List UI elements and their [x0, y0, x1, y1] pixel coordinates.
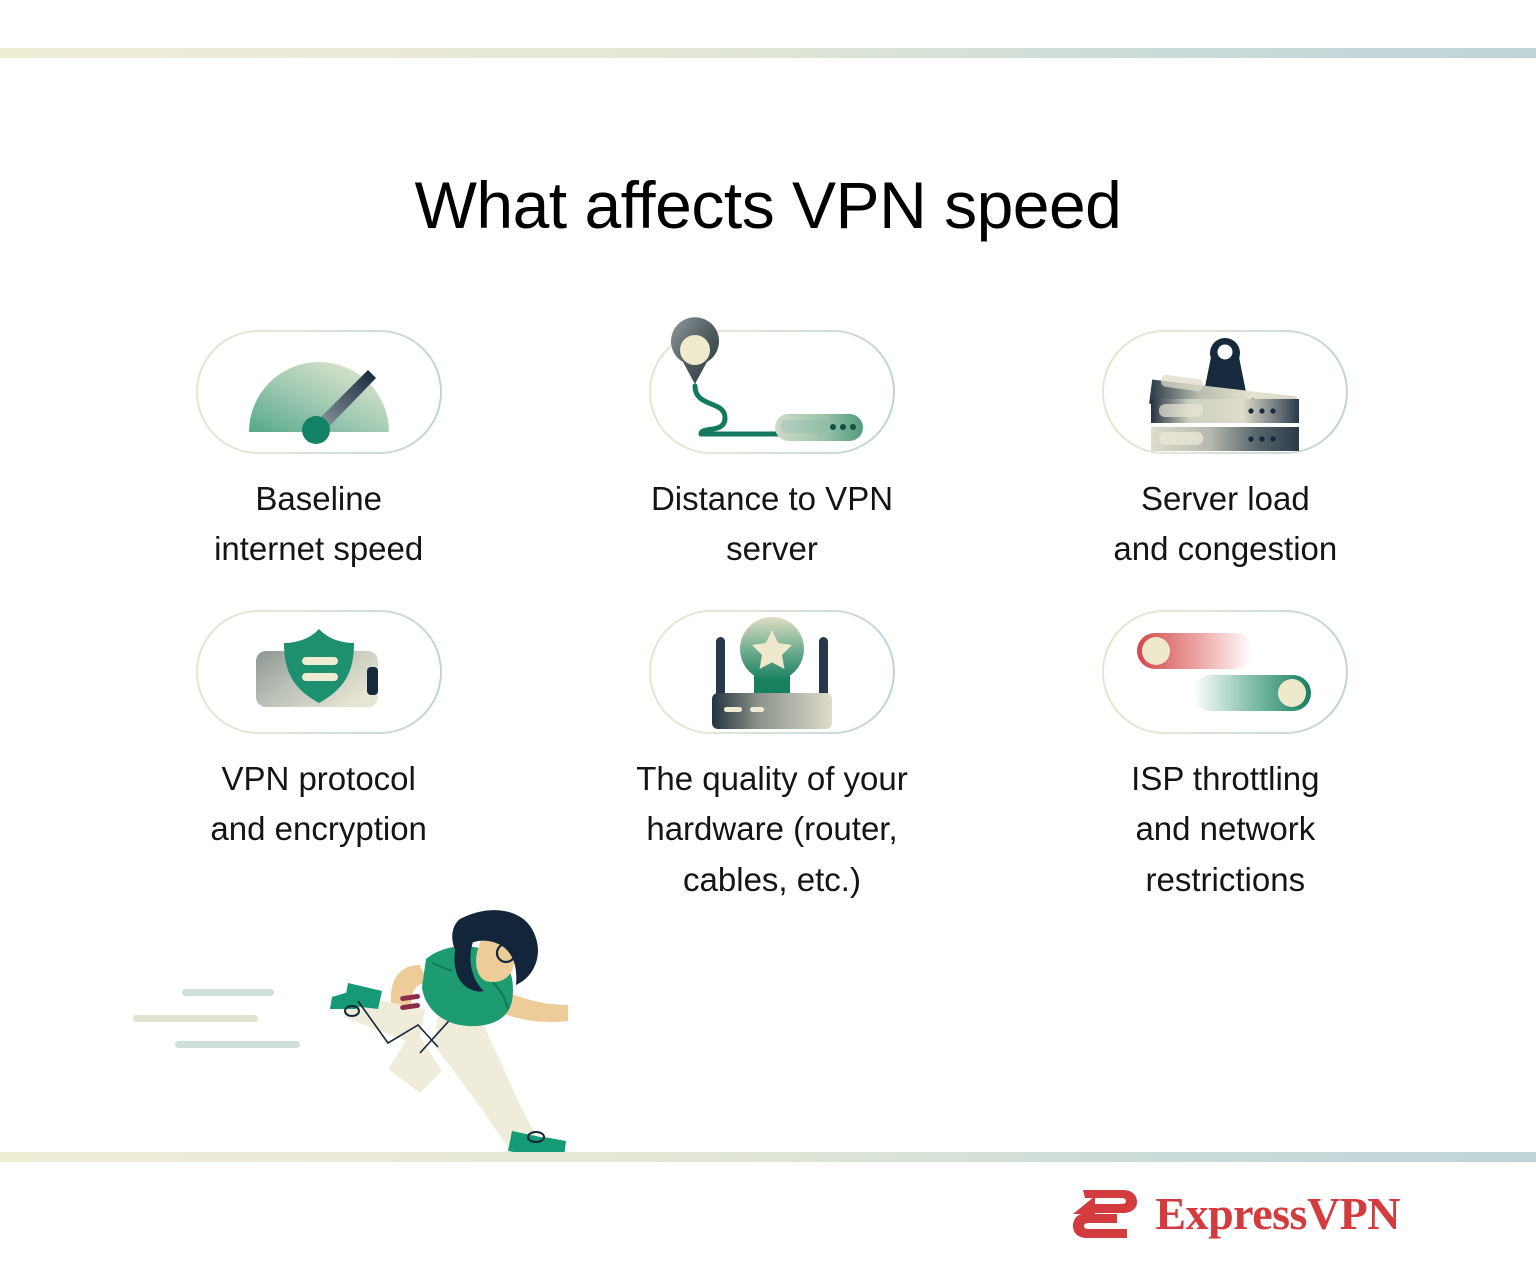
icon-pill — [649, 610, 895, 734]
factor-distance-to-vpn-server: Distance to VPN server — [545, 330, 998, 574]
expressvpn-logo[interactable]: ExpressVPN — [1071, 1186, 1400, 1242]
factor-label-line1: The quality of your — [636, 754, 907, 804]
speedometer-icon — [196, 330, 442, 454]
factor-isp-throttling: ISP throttling and network restrictions — [999, 610, 1452, 904]
router-badge-icon — [649, 610, 895, 734]
factor-label: Baseline internet speed — [214, 474, 423, 574]
factor-label-line3: restrictions — [1131, 855, 1319, 905]
icon-pill — [649, 330, 895, 454]
top-gradient-rule — [0, 48, 1536, 58]
factors-grid: Baseline internet speed — [92, 330, 1452, 905]
factor-label-line1: Distance to VPN — [651, 474, 893, 524]
factor-label-line2: hardware (router, — [636, 804, 907, 854]
factor-label: VPN protocol and encryption — [210, 754, 426, 854]
factor-baseline-internet-speed: Baseline internet speed — [92, 330, 545, 574]
brand-wordmark: ExpressVPN — [1155, 1191, 1400, 1237]
icon-pill — [196, 330, 442, 454]
factor-label-line1: Server load — [1113, 474, 1337, 524]
infographic-page: What affects VPN speed — [0, 0, 1536, 1266]
factor-label: Server load and congestion — [1113, 474, 1337, 574]
toggle-switches-icon — [1102, 610, 1348, 734]
map-pin-route-icon — [649, 330, 895, 454]
factor-label-line1: Baseline — [214, 474, 423, 524]
bottom-gradient-rule — [0, 1152, 1536, 1162]
weighted-servers-icon — [1102, 330, 1348, 454]
page-title: What affects VPN speed — [0, 169, 1536, 242]
factor-label-line3: cables, etc.) — [636, 855, 907, 905]
shield-device-icon — [196, 610, 442, 734]
expressvpn-e-logo — [1071, 1186, 1139, 1242]
factor-server-load-and-congestion: Server load and congestion — [999, 330, 1452, 574]
factor-label: ISP throttling and network restrictions — [1131, 754, 1319, 904]
factor-label-line1: ISP throttling — [1131, 754, 1319, 804]
factor-label-line2: server — [651, 524, 893, 574]
icon-pill — [1102, 330, 1348, 454]
factor-label-line1: VPN protocol — [210, 754, 426, 804]
icon-pill — [196, 610, 442, 734]
runner-illustration — [120, 905, 590, 1155]
factor-label-line2: internet speed — [214, 524, 423, 574]
factor-quality-of-hardware: The quality of your hardware (router, ca… — [545, 610, 998, 904]
factor-label: Distance to VPN server — [651, 474, 893, 574]
factor-label: The quality of your hardware (router, ca… — [636, 754, 907, 904]
factor-label-line2: and network — [1131, 804, 1319, 854]
factor-vpn-protocol-and-encryption: VPN protocol and encryption — [92, 610, 545, 904]
factor-label-line2: and congestion — [1113, 524, 1337, 574]
icon-pill — [1102, 610, 1348, 734]
factor-label-line2: and encryption — [210, 804, 426, 854]
